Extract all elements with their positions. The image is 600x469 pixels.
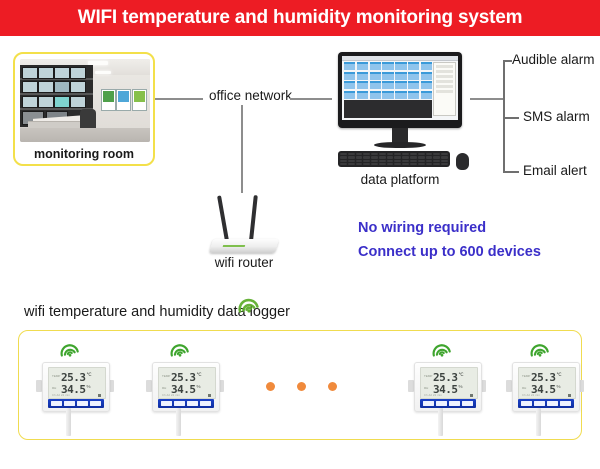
sensor-wifi-icon [528,338,552,363]
sensor-button[interactable] [534,401,545,406]
sensor-lcd-display: TEMP 25.3 ℃ RH 34.5 % Ch Ad 22 min [518,367,576,399]
sensor-temperature-unit: ℃ [557,372,562,378]
sensor-button[interactable] [90,401,101,406]
sensor-housing: TEMP 25.3 ℃ RH 34.5 % Ch Ad 22 min [42,362,110,412]
sensor-button[interactable] [462,401,473,406]
sensor-humidity-unit: % [459,384,463,390]
alerts-trunk-line [503,60,505,172]
sensor-humidity-unit: % [557,384,561,390]
sensor-housing: TEMP 25.3 ℃ RH 34.5 % Ch Ad 22 min [152,362,220,412]
sensor-temperature-value: 25.3 [531,372,556,383]
sensor-temperature-unit: ℃ [197,372,202,378]
sensor-button[interactable] [449,401,460,406]
connector-network-to-computer [290,98,332,100]
sensor-lcd-display: TEMP 25.3 ℃ RH 34.5 % Ch Ad 22 min [158,367,216,399]
keyboard [338,151,450,167]
note-no-wiring: No wiring required [358,220,486,236]
alert-email-alert: Email alert [523,163,587,178]
router-antenna-left [217,195,229,241]
sensor-device-4: TEMP 25.3 ℃ RH 34.5 % Ch Ad 22 min [506,338,584,438]
office-network-label: office network [206,88,295,103]
ellipsis-dots [266,382,337,391]
sensor-wifi-icon [58,338,82,363]
sensor-housing: TEMP 25.3 ℃ RH 34.5 % Ch Ad 22 min [512,362,580,412]
sensor-button[interactable] [187,401,198,406]
ellipsis-dot [266,382,275,391]
wifi-router: wifi router [205,195,281,273]
sensor-probe [176,408,181,436]
sensor-lcd-display: TEMP 25.3 ℃ RH 34.5 % Ch Ad 22 min [420,367,478,399]
sensor-temperature-unit: ℃ [459,372,464,378]
connector-computer-to-alerts [470,98,504,100]
data-platform-label: data platform [330,172,470,187]
sensor-probe [66,408,71,436]
sensor-temp-tag: TEMP [522,372,531,381]
sensor-lcd-indicator-icon [470,394,473,397]
screen-side-panel [433,62,456,116]
sensor-button[interactable] [51,401,62,406]
sensor-humidity-tag: RH [424,384,433,393]
sensor-button[interactable] [161,401,172,406]
sensor-humidity-tag: RH [162,384,171,393]
sensor-temperature-unit: ℃ [87,372,92,378]
sensor-device-3: TEMP 25.3 ℃ RH 34.5 % Ch Ad 22 min [408,338,486,438]
alert-sms-alarm: SMS alarm [523,109,590,124]
sensor-temp-tag: TEMP [424,372,433,381]
sensor-lcd-indicator-icon [568,394,571,397]
alert-stub-1 [503,60,512,62]
note-device-capacity: Connect up to 600 devices [358,244,541,260]
data-platform-computer: data platform [330,52,470,182]
monitor-screen [342,56,458,120]
sensor-lcd-footer: Ch Ad 22 min [424,394,442,397]
monitoring-room-card: monitoring room [13,52,155,166]
sensor-device-1: TEMP 25.3 ℃ RH 34.5 % Ch Ad 22 min [36,338,114,438]
wifi-router-label: wifi router [199,255,289,270]
title-banner: WIFI temperature and humidity monitoring… [0,0,600,36]
sensor-wifi-icon [168,338,192,363]
sensor-device-2: TEMP 25.3 ℃ RH 34.5 % Ch Ad 22 min [146,338,224,438]
alert-audible-alarm: Audible alarm [512,52,595,67]
sensor-button[interactable] [200,401,211,406]
sensor-humidity-tag: RH [52,384,61,393]
sensor-lcd-indicator-icon [208,394,211,397]
mouse [456,153,469,170]
router-antenna-right [249,195,258,241]
sensor-humidity-unit: % [87,384,91,390]
connector-network-to-router [241,105,243,193]
sensor-wifi-icon [430,338,454,363]
monitoring-room-photo [20,59,150,142]
sensor-temperature-value: 25.3 [171,372,196,383]
sensor-button[interactable] [423,401,434,406]
sensor-temperature-value: 25.3 [433,372,458,383]
alert-stub-3 [503,171,519,173]
sensor-lcd-display: TEMP 25.3 ℃ RH 34.5 % Ch Ad 22 min [48,367,106,399]
diagram-canvas: WIFI temperature and humidity monitoring… [0,0,600,469]
sensor-button-strip[interactable] [518,399,574,408]
sensor-button[interactable] [64,401,75,406]
sensor-lcd-indicator-icon [98,394,101,397]
sensor-button-strip[interactable] [48,399,104,408]
page-title: WIFI temperature and humidity monitoring… [78,7,523,29]
sensor-probe [438,408,443,436]
sensor-housing: TEMP 25.3 ℃ RH 34.5 % Ch Ad 22 min [414,362,482,412]
sensor-lcd-footer: Ch Ad 22 min [52,394,70,397]
monitoring-room-label: monitoring room [20,142,148,166]
sensor-button[interactable] [560,401,571,406]
sensor-temperature-value: 25.3 [61,372,86,383]
sensor-button-strip[interactable] [420,399,476,408]
sensor-button-strip[interactable] [158,399,214,408]
connector-room-to-network [155,98,203,100]
sensor-button[interactable] [174,401,185,406]
wifi-signal-icon [236,292,262,319]
sensor-probe [536,408,541,436]
ellipsis-dot [328,382,337,391]
monitor [338,52,462,128]
sensor-lcd-footer: Ch Ad 22 min [522,394,540,397]
sensor-button[interactable] [521,401,532,406]
sensor-button[interactable] [547,401,558,406]
alert-stub-2 [503,117,519,119]
sensor-button[interactable] [436,401,447,406]
sensor-humidity-unit: % [197,384,201,390]
sensor-temp-tag: TEMP [162,372,171,381]
sensor-temp-tag: TEMP [52,372,61,381]
sensor-lcd-footer: Ch Ad 22 min [162,394,180,397]
ellipsis-dot [297,382,306,391]
sensor-button[interactable] [77,401,88,406]
sensor-humidity-tag: RH [522,384,531,393]
